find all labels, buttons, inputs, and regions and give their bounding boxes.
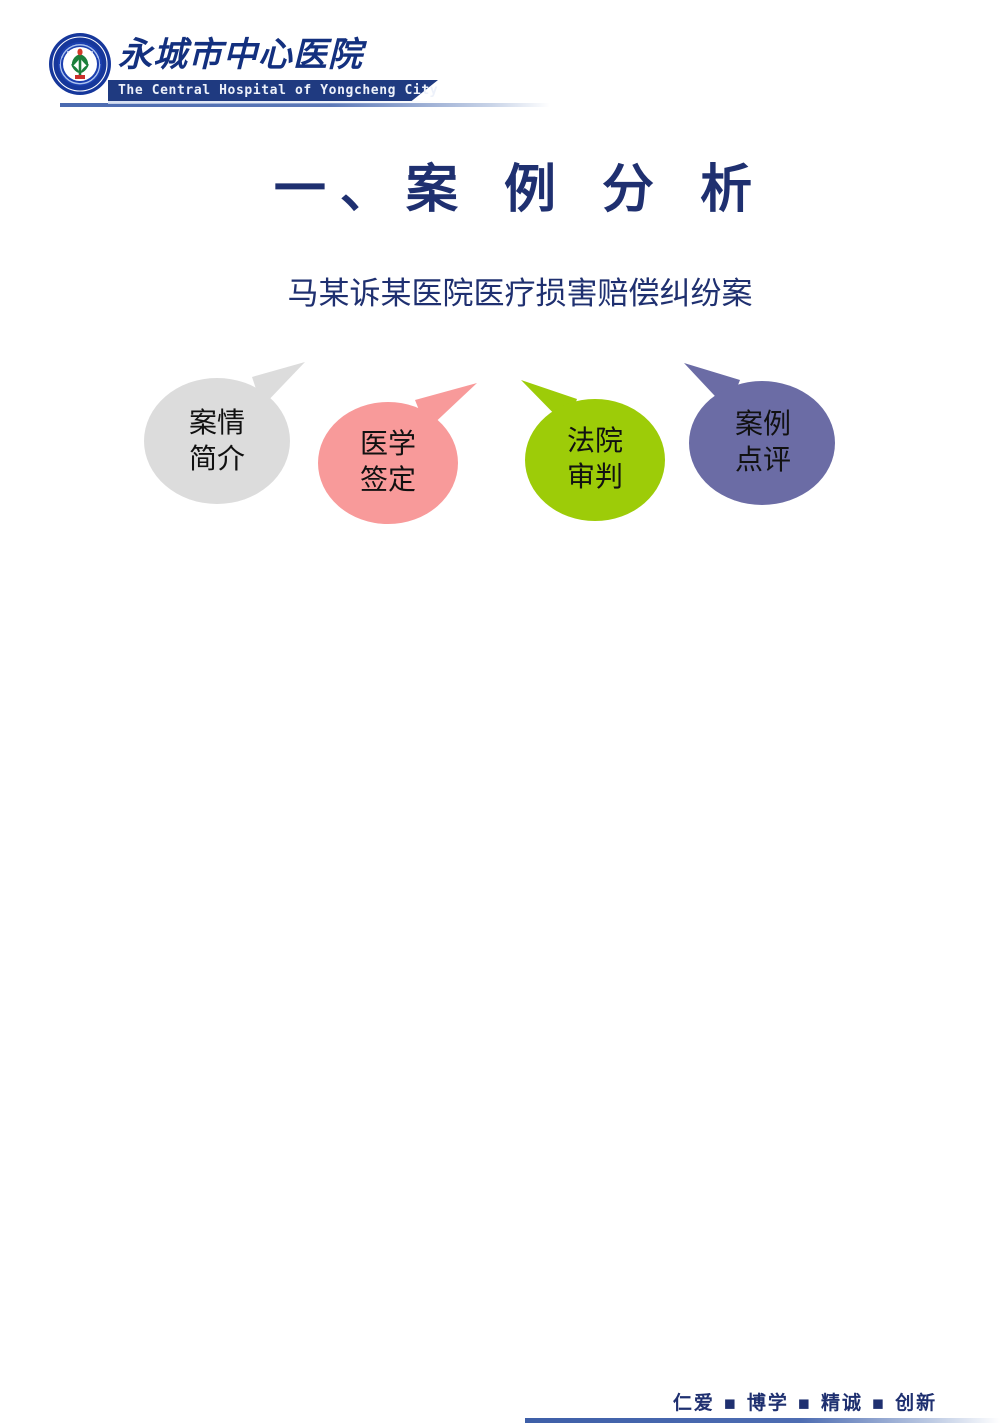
page-subtitle: 马某诉某医院医疗损害赔偿纠纷案	[200, 272, 840, 316]
bubble-label-case-summary: 案情 简介	[154, 405, 280, 477]
footer-motto: 仁爱 ▪ 博学 ▪ 精诚 ▪ 创新	[660, 1391, 950, 1415]
slide-canvas: 永城市中心医院 The Central Hospital of Yongchen…	[0, 0, 1000, 750]
bubble-label-medical-appraisal: 医学 签定	[327, 426, 449, 498]
slide-header: 永城市中心医院 The Central Hospital of Yongchen…	[0, 0, 1000, 120]
bubble-medical-appraisal[interactable]: 医学 签定	[315, 378, 495, 528]
footer-divider-rule	[525, 1418, 1000, 1423]
bubble-label-case-comment: 案例 点评	[700, 406, 826, 478]
hospital-name-en: The Central Hospital of Yongcheng City	[118, 81, 438, 100]
slide-footer: 仁爱 ▪ 博学 ▪ 精诚 ▪ 创新	[0, 690, 1000, 750]
hospital-name-cn: 永城市中心医院	[118, 38, 363, 72]
bubble-group: 案情 简介 医学 签定 法院 审判 案例 点评	[0, 350, 1000, 550]
page-title: 一、案 例 分 析	[200, 160, 840, 220]
bubble-case-comment[interactable]: 案例 点评	[670, 358, 850, 513]
page-title-block: 一、案 例 分 析	[200, 160, 840, 220]
hospital-emblem-icon	[48, 32, 112, 96]
bubble-label-court-judgment: 法院 审判	[533, 423, 657, 495]
bubble-court-judgment[interactable]: 法院 审判	[505, 375, 680, 525]
header-divider-sheen	[108, 101, 448, 104]
bubble-case-summary[interactable]: 案情 简介	[140, 355, 320, 515]
